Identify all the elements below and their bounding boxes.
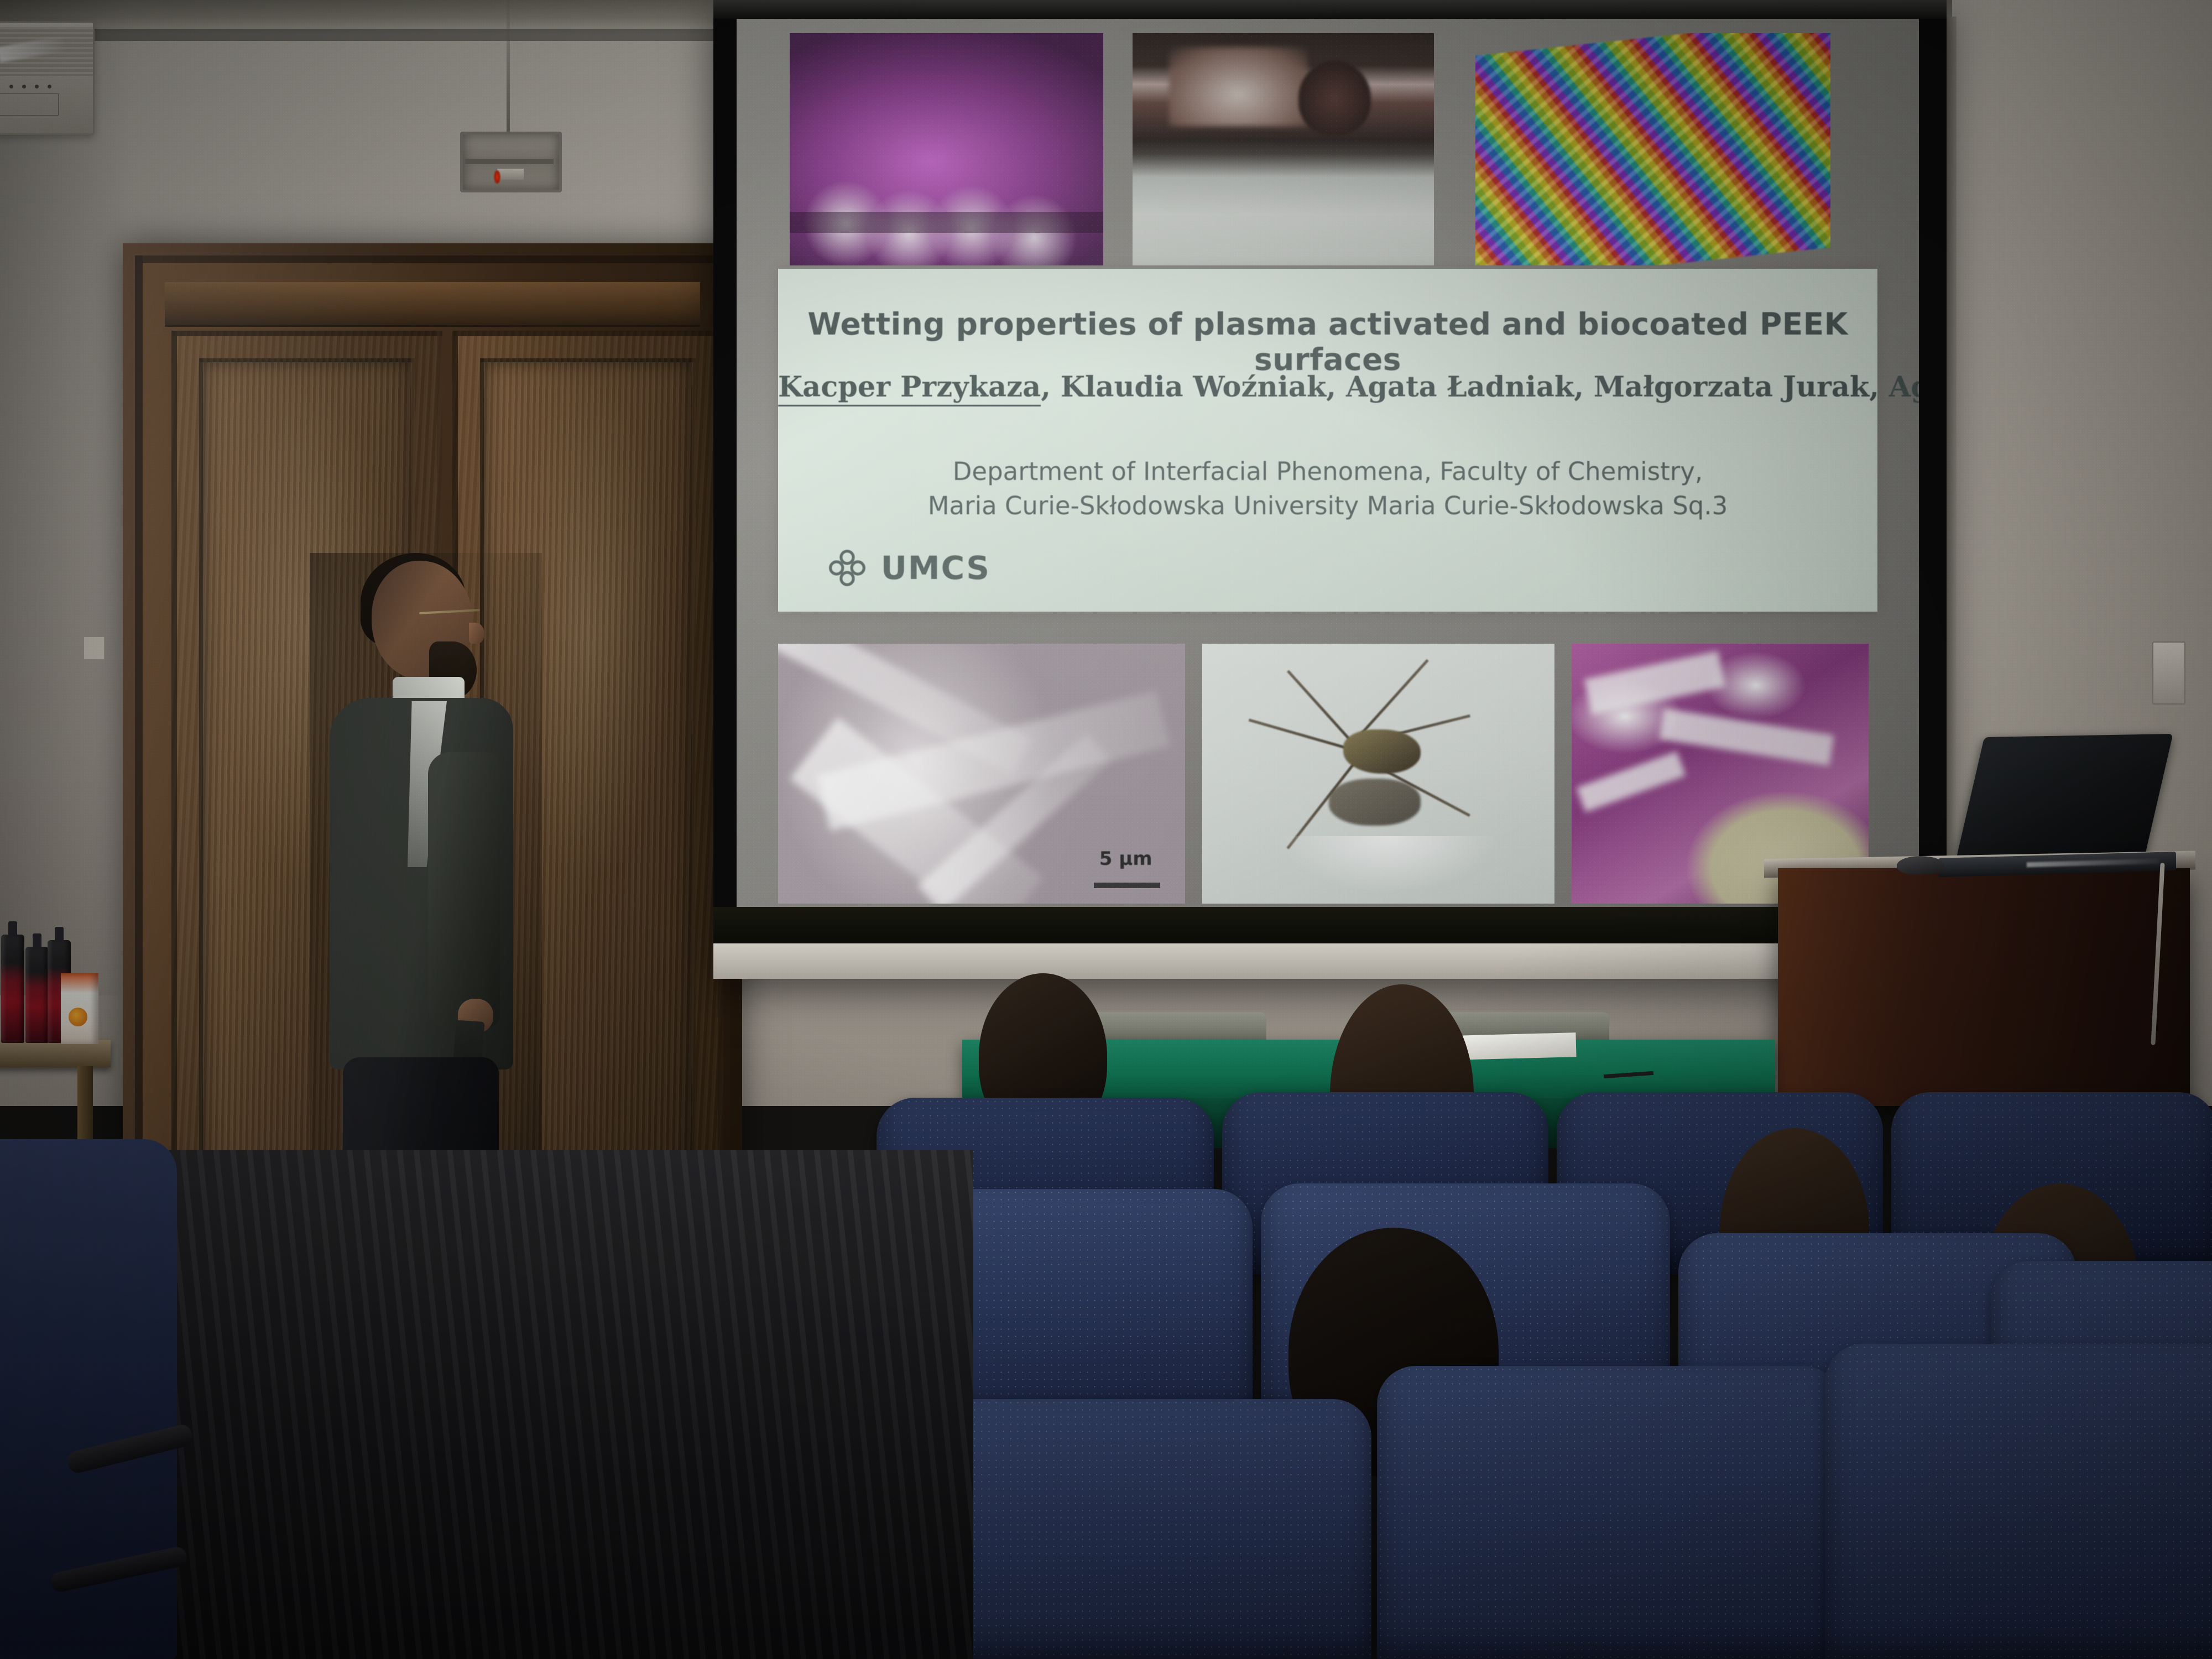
aircon-indicator-dots bbox=[9, 85, 51, 88]
power-led-indicator bbox=[494, 170, 500, 184]
fruit-graphic-icon bbox=[69, 1008, 87, 1026]
left-wall-shadow bbox=[0, 0, 133, 995]
air-conditioner-icon bbox=[0, 21, 95, 135]
affiliation-line-2: Maria Curie-Skłodowska University Maria … bbox=[778, 489, 1877, 523]
sem-cell-image: 5 μm bbox=[778, 644, 1185, 904]
screen-bottom-weight-bar bbox=[713, 943, 1947, 979]
aircon-vent-slot bbox=[0, 93, 59, 116]
podium bbox=[1778, 868, 2190, 1106]
slide-title-card: Wetting properties of plasma activated a… bbox=[778, 269, 1877, 612]
slide-top-image-row bbox=[737, 33, 1919, 265]
wall-outlet-icon bbox=[83, 636, 105, 660]
afm-surface-map-image bbox=[1475, 33, 1830, 265]
slide-affiliation: Department of Interfacial Phenomena, Fac… bbox=[778, 455, 1877, 523]
door-cornice bbox=[165, 282, 700, 327]
juice-carton bbox=[61, 973, 98, 1044]
water-strider-insect-image bbox=[1202, 644, 1554, 904]
slide-title: Wetting properties of plasma activated a… bbox=[778, 306, 1877, 377]
presentation-room-photo: Wetting properties of plasma activated a… bbox=[0, 0, 2212, 1659]
slide-authors: Kacper Przykaza, Klaudia Woźniak, Agata … bbox=[778, 371, 1877, 404]
projected-slide-surface: Wetting properties of plasma activated a… bbox=[737, 19, 1919, 907]
drink-bottle bbox=[25, 947, 49, 1043]
coauthor-names: , Klaudia Woźniak, Agata Ładniak, Małgor… bbox=[1041, 371, 1919, 404]
screen-bottom-border bbox=[713, 907, 1947, 943]
sem-scale-bar bbox=[1094, 883, 1160, 888]
ceiling-cable bbox=[507, 0, 510, 133]
emergency-light-bar bbox=[465, 159, 554, 164]
auditorium-seat[interactable] bbox=[1377, 1366, 1841, 1659]
plasma-droplets-image bbox=[790, 33, 1103, 265]
auditorium-seat[interactable] bbox=[1825, 1344, 2212, 1659]
drink-bottle bbox=[1, 935, 24, 1043]
emergency-light-plate bbox=[497, 169, 524, 180]
slide-bottom-image-row: 5 μm bbox=[778, 644, 1877, 904]
presenter-nose bbox=[469, 623, 484, 644]
presenting-author-name: Kacper Przykaza bbox=[778, 371, 1041, 406]
sem-scale-bar-label: 5 μm bbox=[1099, 848, 1152, 870]
umcs-wordmark: UMCS bbox=[881, 549, 990, 587]
projection-screen: Wetting properties of plasma activated a… bbox=[713, 0, 1947, 979]
emergency-light-icon bbox=[460, 132, 562, 192]
screen-top-rail bbox=[713, 0, 1947, 19]
paper-sheet bbox=[1454, 1032, 1576, 1060]
affiliation-line-1: Department of Interfacial Phenomena, Fac… bbox=[778, 455, 1877, 489]
wall-mounted-box bbox=[2152, 641, 2185, 705]
umcs-clover-mark-icon bbox=[827, 547, 868, 588]
computer-mouse[interactable] bbox=[1897, 856, 1944, 875]
laboratory-photo-image bbox=[1133, 33, 1434, 265]
umcs-logo: UMCS bbox=[827, 547, 990, 588]
presenter-arm bbox=[428, 752, 500, 1029]
